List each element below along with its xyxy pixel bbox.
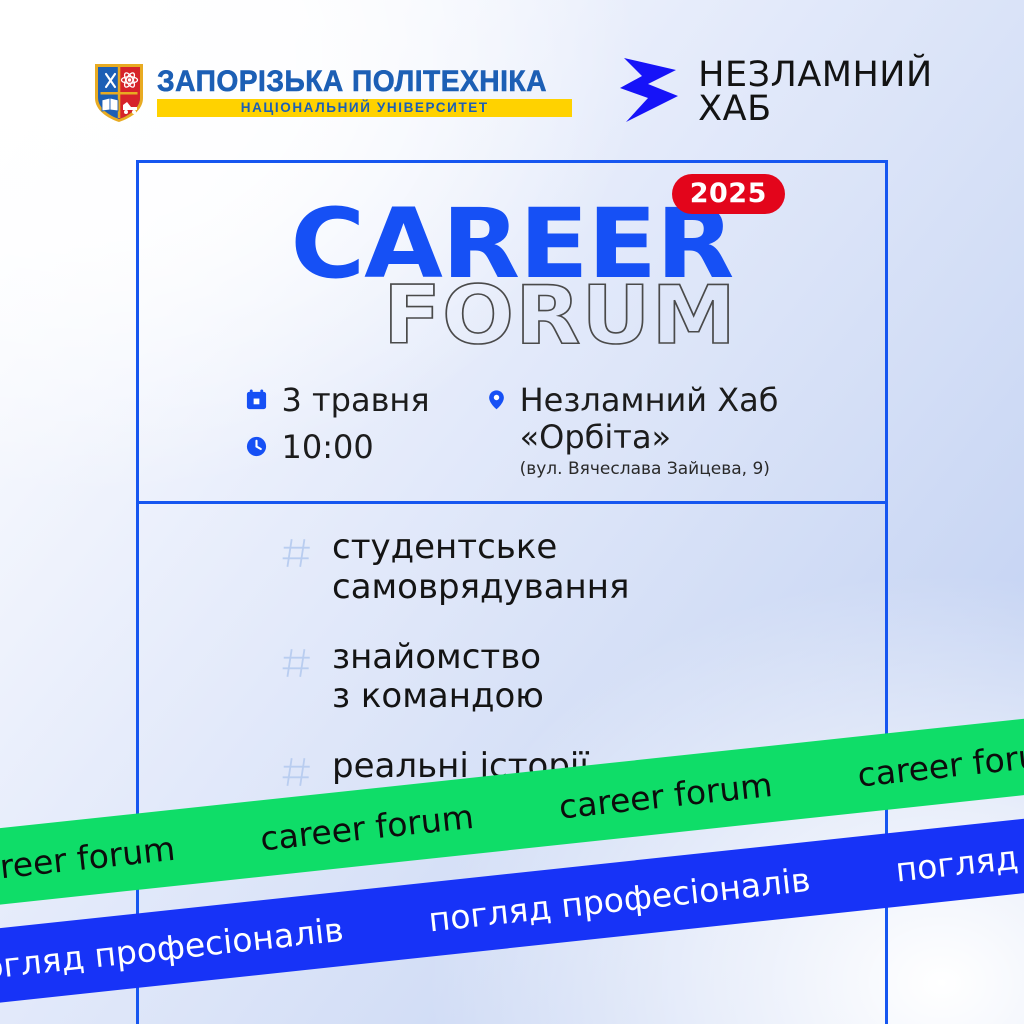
place-line-1: Незламний Хаб (520, 381, 779, 419)
university-name-bottom-bar: НАЦІОНАЛЬНИЙ УНІВЕРСИТЕТ (157, 99, 572, 118)
datetime-column: 3 травня 10:00 (245, 382, 429, 479)
ribbon-text: погляд професіоналів (427, 862, 812, 936)
list-item: студентське самоврядування (280, 528, 888, 608)
ribbon-text: погляд професіоналів (894, 813, 1024, 887)
event-time: 10:00 (245, 429, 429, 466)
ribbon-text: career forum (259, 799, 476, 855)
place-lines: Незламний Хаб «Орбіта» (вул. Вячеслава З… (520, 382, 779, 479)
event-place: Незламний Хаб «Орбіта» (вул. Вячеслава З… (486, 382, 779, 479)
university-wordmark: ЗАПОРІЗЬКА ПОЛІТЕХНІКА НАЦІОНАЛЬНИЙ УНІВ… (157, 67, 572, 118)
event-title-block: CAREER 2025 FORUM (136, 196, 888, 356)
map-pin-icon (486, 388, 507, 416)
list-item-label: студентське самоврядування (332, 528, 629, 608)
hash-icon (280, 755, 314, 794)
ribbon-text: career forum (557, 767, 774, 823)
year-badge: 2025 (672, 174, 785, 214)
event-details: 3 травня 10:00 (136, 382, 888, 479)
ribbon-text: career forum (0, 831, 177, 887)
header-logos: ЗАПОРІЗЬКА ПОЛІТЕХНІКА НАЦІОНАЛЬНИЙ УНІВ… (0, 44, 1024, 140)
poster-canvas: ЗАПОРІЗЬКА ПОЛІТЕХНІКА НАЦІОНАЛЬНИЙ УНІВ… (0, 0, 1024, 1024)
hub-line-1: НЕЗЛАМНИЙ (698, 58, 933, 92)
lightning-bolt-icon (618, 54, 682, 131)
event-time-text: 10:00 (281, 429, 373, 466)
hub-line-2: ХАБ (698, 92, 933, 126)
hash-icon (280, 536, 314, 575)
event-date-text: 3 травня (281, 382, 429, 419)
hub-wordmark: НЕЗЛАМНИЙ ХАБ (698, 58, 933, 127)
ribbon-text: career forum (856, 736, 1024, 792)
place-address: (вул. Вячеслава Зайцева, 9) (520, 459, 779, 479)
list-item: знайомство з командою (280, 638, 888, 718)
calendar-icon (245, 388, 268, 416)
list-item-label: знайомство з командою (332, 638, 544, 718)
place-column: Незламний Хаб «Орбіта» (вул. Вячеслава З… (486, 382, 779, 479)
hash-icon (280, 646, 314, 685)
university-logo: ЗАПОРІЗЬКА ПОЛІТЕХНІКА НАЦІОНАЛЬНИЙ УНІВ… (91, 60, 572, 124)
ribbon-text: погляд професіоналів (0, 912, 345, 986)
frame-top-border (136, 160, 888, 163)
zp-shield-icon (91, 60, 147, 124)
university-name-bottom: НАЦІОНАЛЬНИЙ УНІВЕРСИТЕТ (161, 101, 568, 115)
title-forum: FORUM (212, 276, 907, 356)
event-date: 3 травня (245, 382, 429, 419)
hub-logo: НЕЗЛАМНИЙ ХАБ (618, 54, 933, 131)
university-name-top: ЗАПОРІЗЬКА ПОЛІТЕХНІКА (157, 67, 547, 97)
clock-icon (245, 435, 268, 463)
frame-divider (136, 501, 888, 504)
place-line-2: «Орбіта» (520, 418, 672, 456)
